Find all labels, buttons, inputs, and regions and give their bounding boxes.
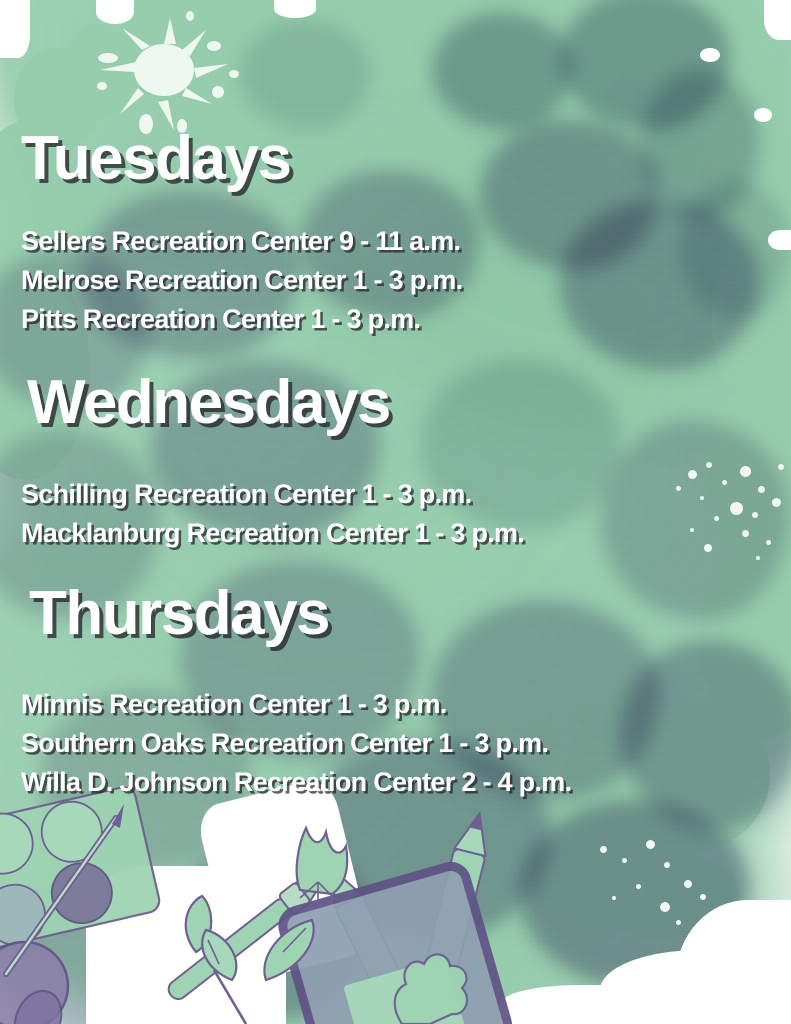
poster-canvas: Tuesdays Sellers Recreation Center 9 - 1… (0, 0, 791, 1024)
venue-item: Minnis Recreation Center 1 - 3 p.m. (21, 685, 791, 724)
venue-list-wednesdays: Schilling Recreation Center 1 - 3 p.m. M… (21, 475, 791, 553)
schedule-content: Tuesdays Sellers Recreation Center 9 - 1… (0, 0, 791, 1024)
venue-item: Macklanburg Recreation Center 1 - 3 p.m. (21, 514, 791, 553)
day-heading-thursdays: Thursdays (29, 583, 791, 645)
venue-item: Willa D. Johnson Recreation Center 2 - 4… (21, 763, 791, 802)
venue-item: Sellers Recreation Center 9 - 11 a.m. (21, 222, 791, 261)
venue-item: Southern Oaks Recreation Center 1 - 3 p.… (21, 724, 791, 763)
day-block-wednesdays: Wednesdays Schilling Recreation Center 1… (0, 372, 791, 553)
venue-item: Schilling Recreation Center 1 - 3 p.m. (21, 475, 791, 514)
day-heading-wednesdays: Wednesdays (27, 372, 791, 434)
day-block-tuesdays: Tuesdays Sellers Recreation Center 9 - 1… (0, 128, 791, 339)
venue-list-tuesdays: Sellers Recreation Center 9 - 11 a.m. Me… (21, 222, 791, 339)
venue-list-thursdays: Minnis Recreation Center 1 - 3 p.m. Sout… (21, 685, 791, 802)
venue-item: Melrose Recreation Center 1 - 3 p.m. (21, 261, 791, 300)
day-block-thursdays: Thursdays Minnis Recreation Center 1 - 3… (0, 583, 791, 802)
day-heading-tuesdays: Tuesdays (21, 128, 791, 190)
venue-item: Pitts Recreation Center 1 - 3 p.m. (21, 300, 791, 339)
